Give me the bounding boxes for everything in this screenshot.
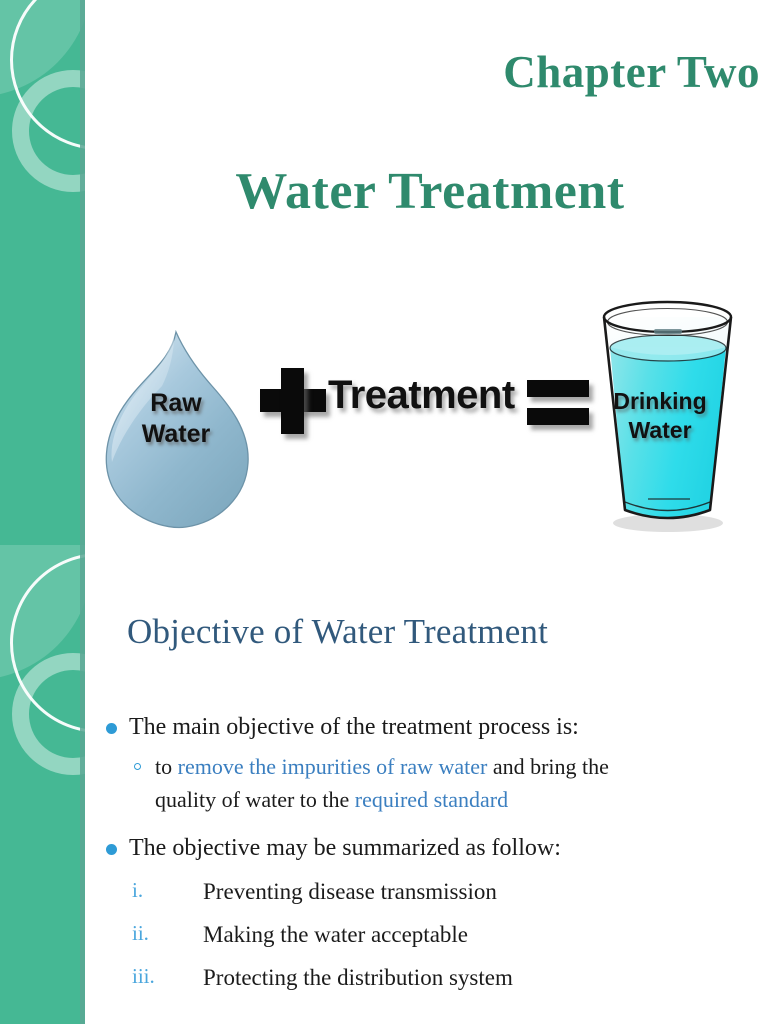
list-item-text: Protecting the distribution system: [203, 965, 513, 990]
equals-icon: [527, 378, 589, 426]
water-treatment-equation-graphic: Raw Water Treatment: [85, 280, 768, 545]
list-marker: i.: [132, 878, 178, 903]
raw-water-label-line2: Water: [142, 420, 211, 448]
sub-bullet-middle: and bring the: [487, 754, 609, 779]
list-marker: iii.: [132, 964, 178, 989]
chapter-title: Chapter Two: [110, 48, 760, 98]
sidebar-deco-group-top: [0, 0, 85, 262]
sub-bullet-lead: to: [155, 754, 178, 779]
list-item-text: Preventing disease transmission: [203, 879, 497, 904]
slide-canvas: Chapter Two Water Treatment: [0, 0, 768, 1024]
plus-icon: [260, 368, 326, 434]
list-marker: ii.: [132, 921, 178, 946]
bullet-text: The objective may be summarized as follo…: [129, 835, 561, 861]
bullet-dot-icon: [106, 723, 117, 734]
equals-icon-bar-top: [527, 380, 589, 397]
list-item: The main objective of the treatment proc…: [100, 712, 768, 744]
list-item: to remove the impurities of raw water an…: [128, 750, 767, 817]
page-title: Water Treatment: [110, 163, 750, 220]
drinking-water-glass: Drinking Water: [590, 295, 745, 545]
drinking-water-label: Drinking Water: [595, 387, 725, 445]
sub-bullet-ring-icon: [134, 763, 141, 770]
raw-water-drop: Raw Water: [100, 330, 260, 535]
section-heading: Objective of Water Treatment: [127, 612, 548, 652]
treatment-label: Treatment: [328, 373, 515, 418]
raw-water-label-line1: Raw: [150, 389, 201, 417]
objectives-content: The main objective of the treatment proc…: [100, 712, 768, 1006]
raw-water-label: Raw Water: [100, 388, 252, 451]
sub-bullet-line2: quality of water to the required standar…: [155, 783, 767, 816]
sub-bullet-highlight-1: remove the impurities of raw water: [178, 754, 488, 779]
list-item: iii. Protecting the distribution system: [128, 964, 768, 993]
list-item-text: Making the water acceptable: [203, 922, 468, 947]
bullet-dot-icon: [106, 844, 117, 855]
sub-bullet-highlight-2: required standard: [355, 787, 508, 812]
list-item: The objective may be summarized as follo…: [100, 833, 768, 865]
bullet-text: The main objective of the treatment proc…: [129, 714, 579, 740]
sidebar-deco-group-bottom: [0, 545, 85, 845]
list-item: i. Preventing disease transmission: [128, 878, 768, 907]
equals-icon-bar-bottom: [527, 408, 589, 425]
sub-bullet-text: to remove the impurities of raw water an…: [155, 750, 767, 817]
list-item: ii. Making the water acceptable: [128, 921, 768, 950]
sub-bullet-line2-lead: quality of water to the: [155, 787, 355, 812]
drinking-water-label-line1: Drinking: [613, 388, 706, 414]
plus-icon-bar-vertical: [281, 368, 304, 434]
decorative-sidebar: [0, 0, 85, 1024]
drinking-water-label-line2: Water: [628, 417, 691, 443]
